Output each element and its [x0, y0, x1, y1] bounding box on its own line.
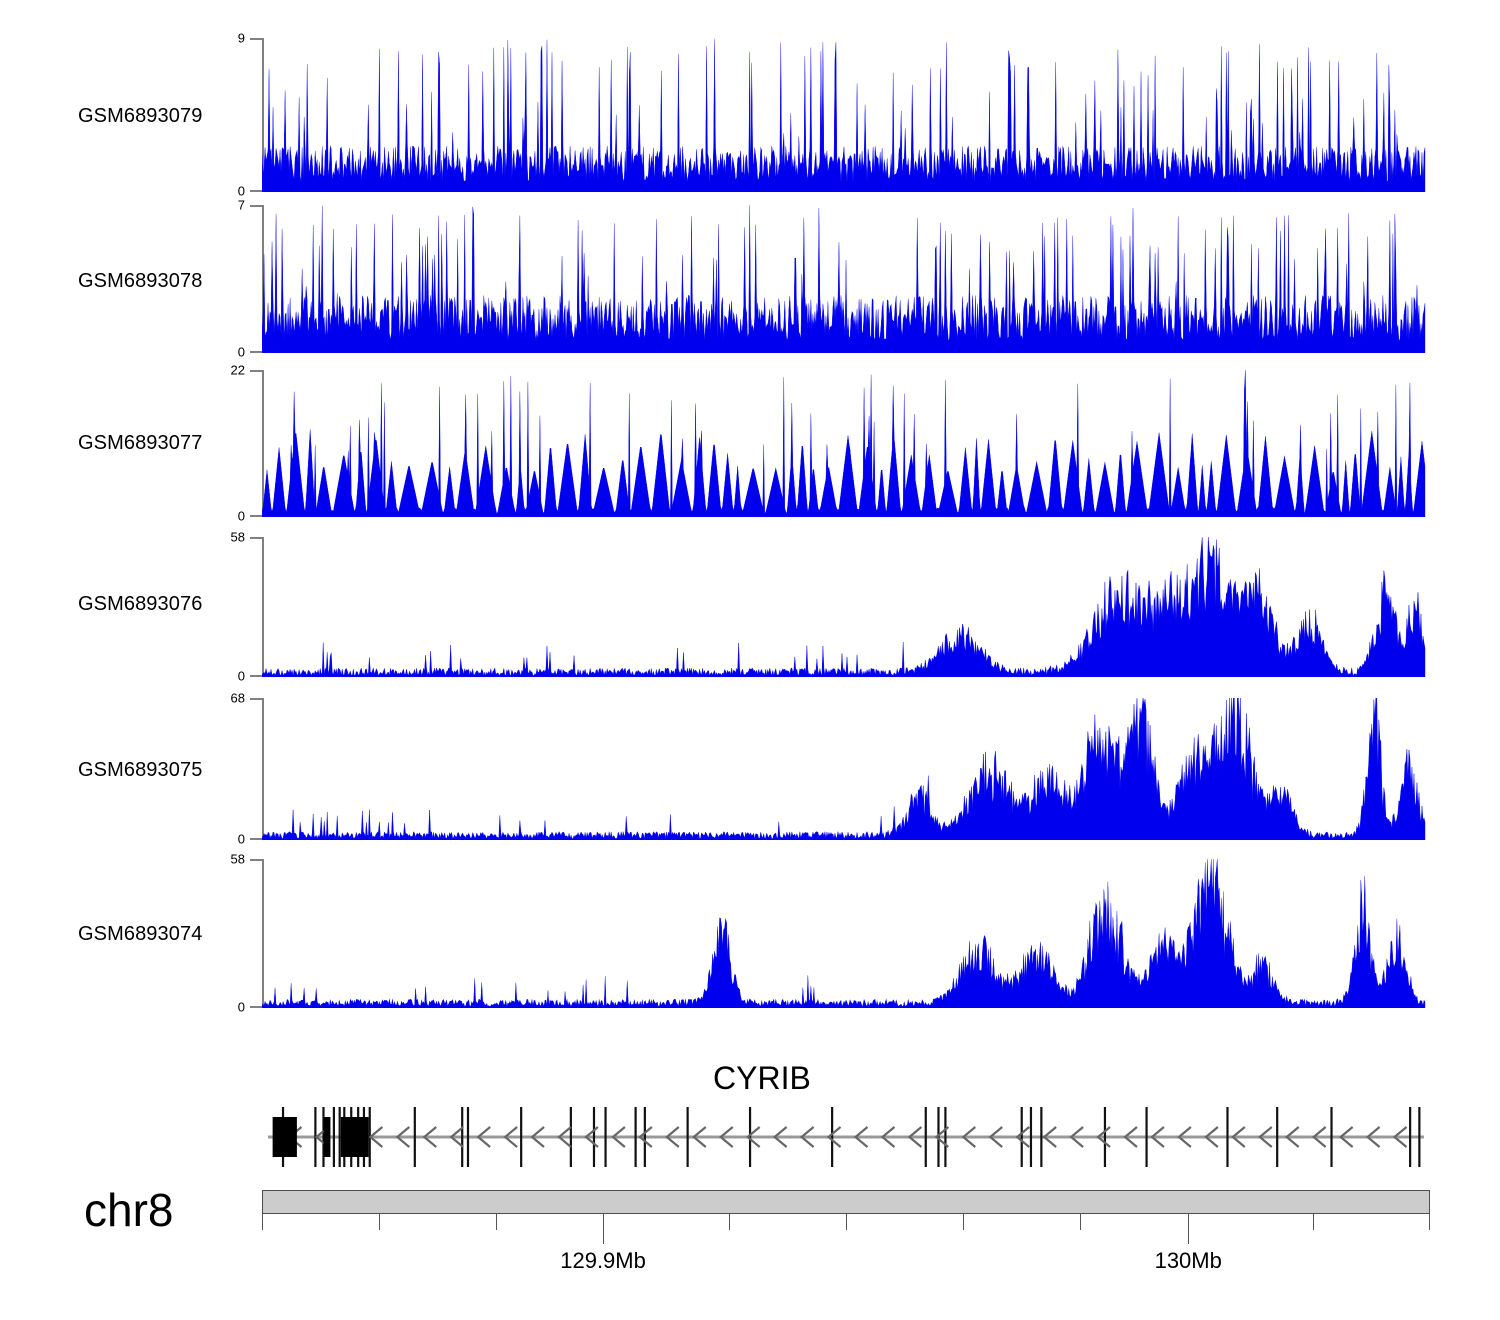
gene-model-track[interactable] [262, 1098, 1430, 1176]
track-sample-label: GSM6893078 [78, 270, 238, 293]
track-sample-label: GSM6893076 [78, 593, 238, 616]
ruler-tick [379, 1214, 380, 1230]
y-axis-max-label: 9 [238, 32, 245, 45]
gene-model-svg [262, 1098, 1430, 1176]
genomic-ruler: 129.9Mb130Mb [262, 1214, 1430, 1284]
ruler-tick [1188, 1214, 1189, 1244]
ideogram-bar[interactable] [262, 1190, 1430, 1214]
track-plot-area[interactable] [262, 370, 1426, 517]
ruler-tick [603, 1214, 604, 1244]
ruler-tick [846, 1214, 847, 1230]
coverage-track-gsm6893079[interactable]: GSM689307990 [0, 38, 1500, 202]
ruler-tick [496, 1214, 497, 1230]
chromosome-label: chr8 [84, 1183, 173, 1237]
ruler-tick-label: 130Mb [1155, 1248, 1222, 1274]
y-axis-min-label: 0 [238, 346, 245, 359]
ruler-tick-label: 129.9Mb [560, 1248, 646, 1274]
coverage-track-gsm6893078[interactable]: GSM689307870 [0, 205, 1500, 363]
track-plot-area[interactable] [262, 859, 1426, 1008]
ruler-tick [262, 1214, 263, 1230]
ruler-tick [1313, 1214, 1314, 1230]
y-axis-min-label: 0 [238, 670, 245, 683]
track-sample-label: GSM6893079 [78, 105, 238, 128]
y-axis-max-label: 7 [238, 199, 245, 212]
coverage-track-gsm6893076[interactable]: GSM6893076580 [0, 537, 1500, 687]
track-sample-label: GSM6893077 [78, 432, 238, 455]
track-plot-area[interactable] [262, 698, 1426, 840]
track-plot-area[interactable] [262, 205, 1426, 353]
ruler-tick [729, 1214, 730, 1230]
gene-name-label: CYRIB [713, 1060, 811, 1097]
track-plot-area[interactable] [262, 38, 1426, 192]
coverage-track-gsm6893075[interactable]: GSM6893075680 [0, 698, 1500, 850]
track-plot-area[interactable] [262, 537, 1426, 677]
y-axis-min-label: 0 [238, 1001, 245, 1014]
y-axis-max-label: 22 [231, 364, 245, 377]
ruler-tick [1080, 1214, 1081, 1230]
y-axis-max-label: 58 [231, 531, 245, 544]
y-axis-max-label: 68 [231, 692, 245, 705]
track-sample-label: GSM6893074 [78, 923, 238, 946]
ruler-tick [1429, 1214, 1430, 1230]
y-axis-min-label: 0 [238, 833, 245, 846]
y-axis-min-label: 0 [238, 185, 245, 198]
track-sample-label: GSM6893075 [78, 759, 238, 782]
coverage-track-gsm6893074[interactable]: GSM6893074580 [0, 859, 1500, 1018]
coverage-track-gsm6893077[interactable]: GSM6893077220 [0, 370, 1500, 527]
y-axis-min-label: 0 [238, 510, 245, 523]
y-axis-max-label: 58 [231, 853, 245, 866]
ruler-tick [963, 1214, 964, 1230]
genome-browser-view: GSM689307990GSM689307870GSM6893077220GSM… [0, 0, 1500, 1320]
